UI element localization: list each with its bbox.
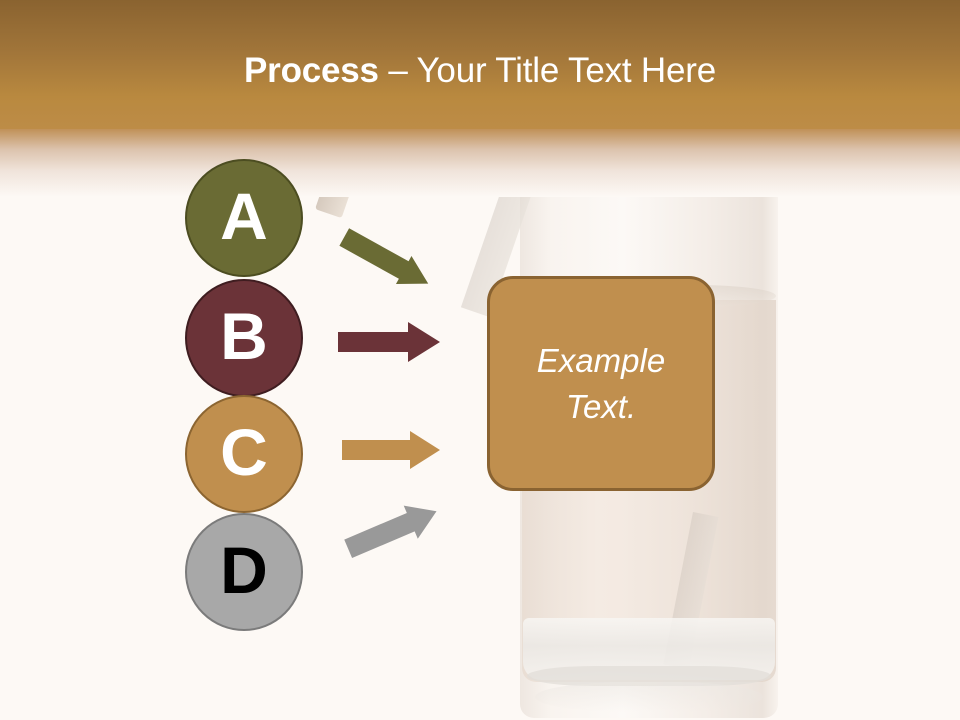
step-circle-c[interactable]: C xyxy=(185,395,303,513)
step-circle-d[interactable]: D xyxy=(185,513,303,631)
example-text-content: Example Text. xyxy=(490,338,712,430)
step-circle-b[interactable]: B xyxy=(185,279,303,397)
arrow-d-icon xyxy=(338,490,456,566)
page-title: Process – Your Title Text Here xyxy=(0,50,960,92)
arrow-a-icon xyxy=(336,222,452,298)
step-circle-d-label: D xyxy=(220,537,268,603)
step-circle-a[interactable]: A xyxy=(185,159,303,277)
example-text-box[interactable]: Example Text. xyxy=(487,276,715,491)
page-title-strong: Process xyxy=(244,51,379,90)
step-circle-a-label: A xyxy=(220,183,268,249)
example-text-line-2: Text. xyxy=(490,384,712,430)
header-fade-gradient xyxy=(0,129,960,197)
step-circle-b-label: B xyxy=(220,303,268,369)
step-circle-c-label: C xyxy=(220,419,268,485)
glass-reflection xyxy=(535,682,763,712)
page-title-rest: – Your Title Text Here xyxy=(379,51,716,90)
arrow-b-icon xyxy=(336,320,446,364)
slide-canvas: Process – Your Title Text Here A B C D xyxy=(0,0,960,720)
arrow-c-icon xyxy=(340,429,446,471)
example-text-line-1: Example xyxy=(490,338,712,384)
